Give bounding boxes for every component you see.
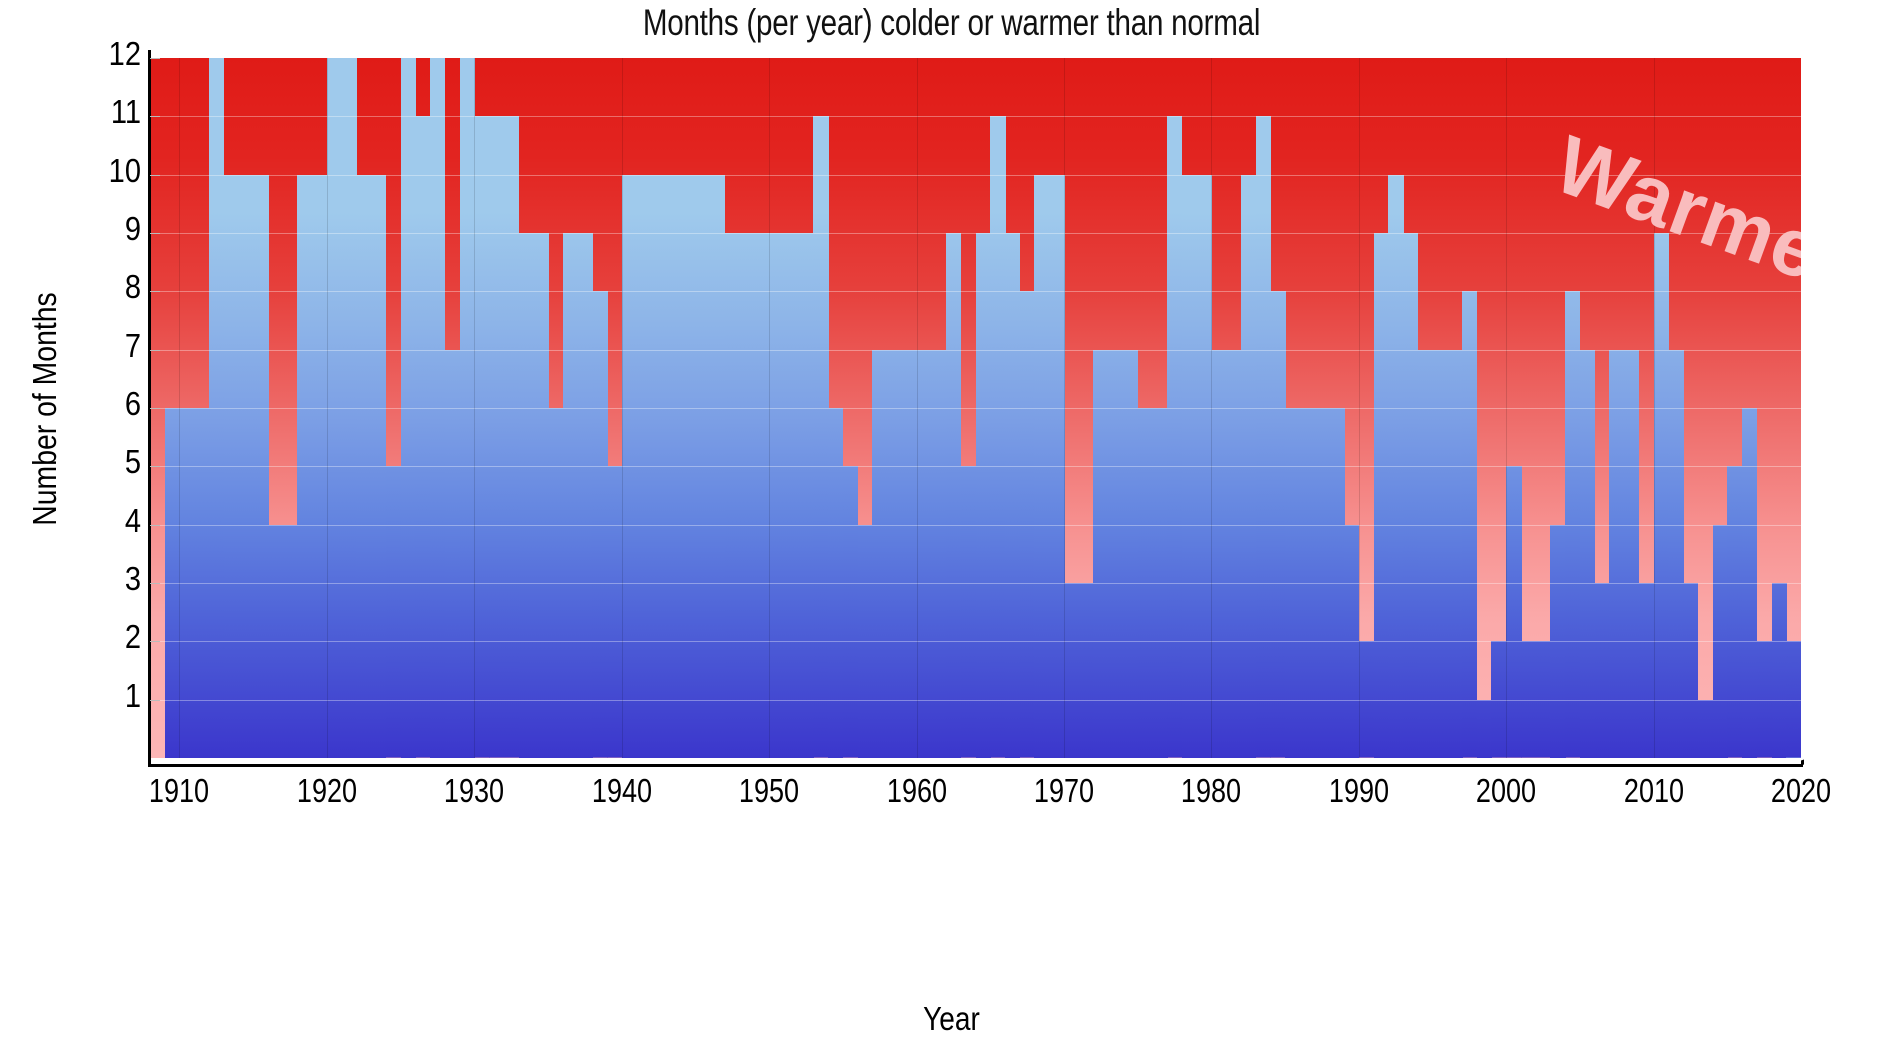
- bar-colder: [1359, 641, 1374, 758]
- bar-colder: [1344, 525, 1359, 758]
- bar-colder: [1506, 466, 1521, 758]
- x-tick-label: 1940: [573, 772, 671, 810]
- bar-colder: [1329, 408, 1344, 758]
- bar-colder: [1654, 233, 1669, 758]
- bar-colder: [179, 408, 194, 758]
- bar-colder: [386, 466, 401, 758]
- y-tick-label: 8: [88, 268, 141, 306]
- bar-colder: [1447, 350, 1462, 758]
- bar-colder: [1182, 175, 1197, 758]
- bar-colder: [297, 175, 312, 758]
- bar-colder: [681, 175, 696, 758]
- bar-colder: [1683, 583, 1698, 758]
- bar-colder: [725, 233, 740, 758]
- bar-colder: [887, 350, 902, 758]
- bar-colder: [1167, 116, 1182, 758]
- x-axis-line: [148, 764, 1803, 767]
- x-tick-label: 2020: [1752, 772, 1850, 810]
- bar-colder: [519, 233, 534, 758]
- bar-colder: [489, 116, 504, 758]
- bar-colder: [695, 175, 710, 758]
- bar-colder: [1403, 233, 1418, 758]
- bar-colder: [563, 233, 578, 758]
- bar-colder: [902, 350, 917, 758]
- y-tick-label: 1: [88, 677, 141, 715]
- bar-colder: [1315, 408, 1330, 758]
- bar-colder: [1256, 116, 1271, 758]
- chart-root: Months (per year) colder or warmer than …: [0, 0, 1903, 1048]
- bar-colder: [415, 116, 430, 758]
- bar-colder: [1049, 175, 1064, 758]
- bar-colder: [1727, 466, 1742, 758]
- bar-colder: [1668, 350, 1683, 758]
- x-tick-label: 1960: [867, 772, 965, 810]
- bar-colder: [460, 58, 475, 758]
- bar-colder: [799, 233, 814, 758]
- bar-colder: [327, 58, 342, 758]
- y-tick-label: 9: [88, 210, 141, 248]
- bar-colder: [1477, 700, 1492, 758]
- bar-colder: [1713, 525, 1728, 758]
- bar-colder: [1491, 641, 1506, 758]
- y-tick-mark: [150, 58, 160, 59]
- bar-colder: [592, 291, 607, 758]
- bar-colder: [740, 233, 755, 758]
- bar-colder: [209, 58, 224, 758]
- bar-colder: [754, 233, 769, 758]
- bar-colder: [1020, 291, 1035, 758]
- bar-colder: [1639, 583, 1654, 758]
- bar-colder: [1152, 408, 1167, 758]
- bar-colder: [1138, 408, 1153, 758]
- bar-colder: [1772, 583, 1787, 758]
- bar-colder: [710, 175, 725, 758]
- bar-colder: [1064, 583, 1079, 758]
- bar-colder: [533, 233, 548, 758]
- y-tick-mark: [150, 525, 160, 526]
- bar-colder: [1609, 350, 1624, 758]
- plot-area: Warmer Colder: [150, 58, 1801, 758]
- bar-colder: [1093, 350, 1108, 758]
- bar-colder: [843, 466, 858, 758]
- bar-colder: [194, 408, 209, 758]
- bar-colder: [312, 175, 327, 758]
- bar-colder: [504, 116, 519, 758]
- bar-colder: [1034, 175, 1049, 758]
- y-tick-label: 10: [88, 152, 141, 190]
- bar-colder: [1565, 291, 1580, 758]
- bar-colder: [356, 175, 371, 758]
- x-tick-label: 1970: [1015, 772, 1113, 810]
- bar-colder: [828, 408, 843, 758]
- y-tick-mark: [150, 350, 160, 351]
- y-tick-mark: [150, 175, 160, 176]
- bar-colder: [430, 58, 445, 758]
- bar-colder: [371, 175, 386, 758]
- bar-colder: [1757, 641, 1772, 758]
- bar-colder: [1595, 583, 1610, 758]
- x-tick-label: 2010: [1604, 772, 1702, 810]
- bar-colder: [401, 58, 416, 758]
- chart-title: Months (per year) colder or warmer than …: [190, 2, 1712, 44]
- y-tick-mark: [150, 233, 160, 234]
- y-tick-label: 3: [88, 560, 141, 598]
- bar-colder: [1374, 233, 1389, 758]
- bar-colder: [165, 408, 180, 758]
- bar-colder: [1624, 350, 1639, 758]
- x-tick-label: 2000: [1457, 772, 1555, 810]
- bar-colder: [1521, 641, 1536, 758]
- x-tick-label: 1920: [278, 772, 376, 810]
- bar-colder: [1211, 350, 1226, 758]
- bar-colder: [1005, 233, 1020, 758]
- bar-colder: [931, 350, 946, 758]
- bar-colder: [238, 175, 253, 758]
- y-axis-label: Number of Months: [26, 267, 64, 551]
- bar-colder: [858, 525, 873, 758]
- bar-colder: [976, 233, 991, 758]
- bar-colder: [1462, 291, 1477, 758]
- bar-colder: [1418, 350, 1433, 758]
- bar-colder: [651, 175, 666, 758]
- y-tick-label: 6: [88, 385, 141, 423]
- y-tick-label: 4: [88, 502, 141, 540]
- bar-colder: [622, 175, 637, 758]
- x-axis-label: Year: [143, 1000, 1761, 1038]
- x-tick-label: 1930: [425, 772, 523, 810]
- bar-colder: [548, 408, 563, 758]
- bar-colder: [917, 350, 932, 758]
- bar-colder: [784, 233, 799, 758]
- y-tick-mark: [150, 291, 160, 292]
- bar-colder: [607, 466, 622, 758]
- bar-colder: [1432, 350, 1447, 758]
- bar-colder: [813, 116, 828, 758]
- bar-colder: [1300, 408, 1315, 758]
- bar-colder: [577, 233, 592, 758]
- colder-bars-layer: [150, 58, 1801, 758]
- y-tick-label: 12: [88, 35, 141, 73]
- y-tick-mark: [150, 641, 160, 642]
- bar-colder: [1580, 350, 1595, 758]
- y-tick-mark: [150, 466, 160, 467]
- bar-colder: [1226, 350, 1241, 758]
- bar-colder: [445, 350, 460, 758]
- bar-colder: [961, 466, 976, 758]
- bar-colder: [474, 116, 489, 758]
- bar-colder: [224, 175, 239, 758]
- bar-colder: [636, 175, 651, 758]
- y-tick-mark: [150, 116, 160, 117]
- bar-colder: [1270, 291, 1285, 758]
- bar-colder: [666, 175, 681, 758]
- bar-colder: [1123, 350, 1138, 758]
- bar-colder: [268, 525, 283, 758]
- bar-colder: [946, 233, 961, 758]
- y-tick-label: 5: [88, 443, 141, 481]
- bar-colder: [1536, 641, 1551, 758]
- bar-colder: [1698, 700, 1713, 758]
- y-tick-label: 7: [88, 327, 141, 365]
- bar-colder: [342, 58, 357, 758]
- bar-colder: [1108, 350, 1123, 758]
- bar-colder: [1742, 408, 1757, 758]
- bar-colder: [1285, 408, 1300, 758]
- bar-colder: [1388, 175, 1403, 758]
- bar-colder: [990, 116, 1005, 758]
- y-tick-label: 11: [88, 93, 141, 131]
- x-tick-label: 1950: [720, 772, 818, 810]
- bar-colder: [283, 525, 298, 758]
- y-tick-mark: [150, 408, 160, 409]
- bar-colder: [1550, 525, 1565, 758]
- bar-colder: [769, 233, 784, 758]
- bar-colder: [1079, 583, 1094, 758]
- y-tick-mark: [150, 583, 160, 584]
- y-tick-label: 2: [88, 618, 141, 656]
- y-tick-mark: [150, 700, 160, 701]
- x-tick-label: 1980: [1162, 772, 1260, 810]
- bar-colder: [872, 350, 887, 758]
- bar-colder: [1241, 175, 1256, 758]
- bar-colder: [1786, 641, 1801, 758]
- x-tick-label: 1990: [1310, 772, 1408, 810]
- bar-colder: [253, 175, 268, 758]
- bar-colder: [1197, 175, 1212, 758]
- x-tick-label: 1910: [130, 772, 228, 810]
